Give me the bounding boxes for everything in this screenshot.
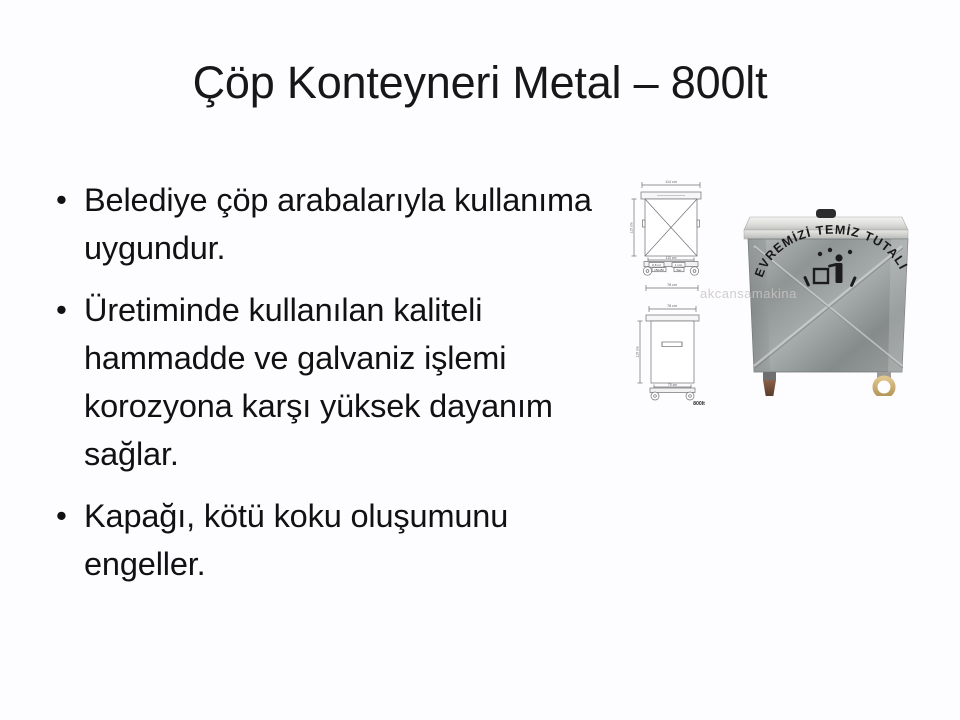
bullet-list: • Belediye çöp arabalarıyla kullanıma uy… bbox=[50, 176, 620, 588]
bullet-text: Belediye çöp arabalarıyla kullanıma uygu… bbox=[84, 176, 620, 272]
caster-right-icon bbox=[875, 372, 893, 396]
svg-text:115 cm: 115 cm bbox=[629, 222, 633, 233]
svg-text:1 mm: 1 mm bbox=[675, 263, 683, 267]
svg-text:78 cm: 78 cm bbox=[667, 283, 677, 287]
list-item: • Üretiminde kullanılan kaliteli hammadd… bbox=[50, 286, 620, 478]
svg-text:150x80: 150x80 bbox=[654, 268, 664, 272]
bullet-text: Üretiminde kullanılan kaliteli hammadde … bbox=[84, 286, 620, 478]
bullet-marker-icon: • bbox=[50, 492, 84, 540]
slide: Çöp Konteyneri Metal – 800lt • Belediye … bbox=[0, 0, 960, 720]
svg-text:0,8 m²: 0,8 m² bbox=[652, 263, 661, 267]
svg-text:75 cm: 75 cm bbox=[668, 383, 677, 387]
technical-drawing: 114 cm 115 cm bbox=[624, 176, 744, 408]
lid-handle-icon bbox=[816, 209, 836, 218]
list-item: • Belediye çöp arabalarıyla kullanıma uy… bbox=[50, 176, 620, 272]
caster-left-icon bbox=[763, 372, 776, 396]
svg-text:110 cm: 110 cm bbox=[666, 256, 677, 260]
bullet-marker-icon: • bbox=[50, 176, 84, 224]
product-illustration: 114 cm 115 cm bbox=[624, 176, 920, 408]
svg-text:114 cm: 114 cm bbox=[665, 180, 677, 184]
bullet-text: Kapağı, kötü koku oluşumunu engeller. bbox=[84, 492, 620, 588]
capacity-label: 800lt bbox=[693, 401, 705, 407]
bullet-marker-icon: • bbox=[50, 286, 84, 334]
page-title: Çöp Konteyneri Metal – 800lt bbox=[0, 58, 960, 108]
svg-text:78 cm: 78 cm bbox=[667, 304, 677, 308]
svg-text:Sac: Sac bbox=[676, 268, 682, 272]
list-item: • Kapağı, kötü koku oluşumunu engeller. bbox=[50, 492, 620, 588]
svg-text:115 cm: 115 cm bbox=[635, 346, 639, 357]
container-photo: ÇEVREMİZİ TEMİZ TUTALIM bbox=[736, 184, 920, 396]
